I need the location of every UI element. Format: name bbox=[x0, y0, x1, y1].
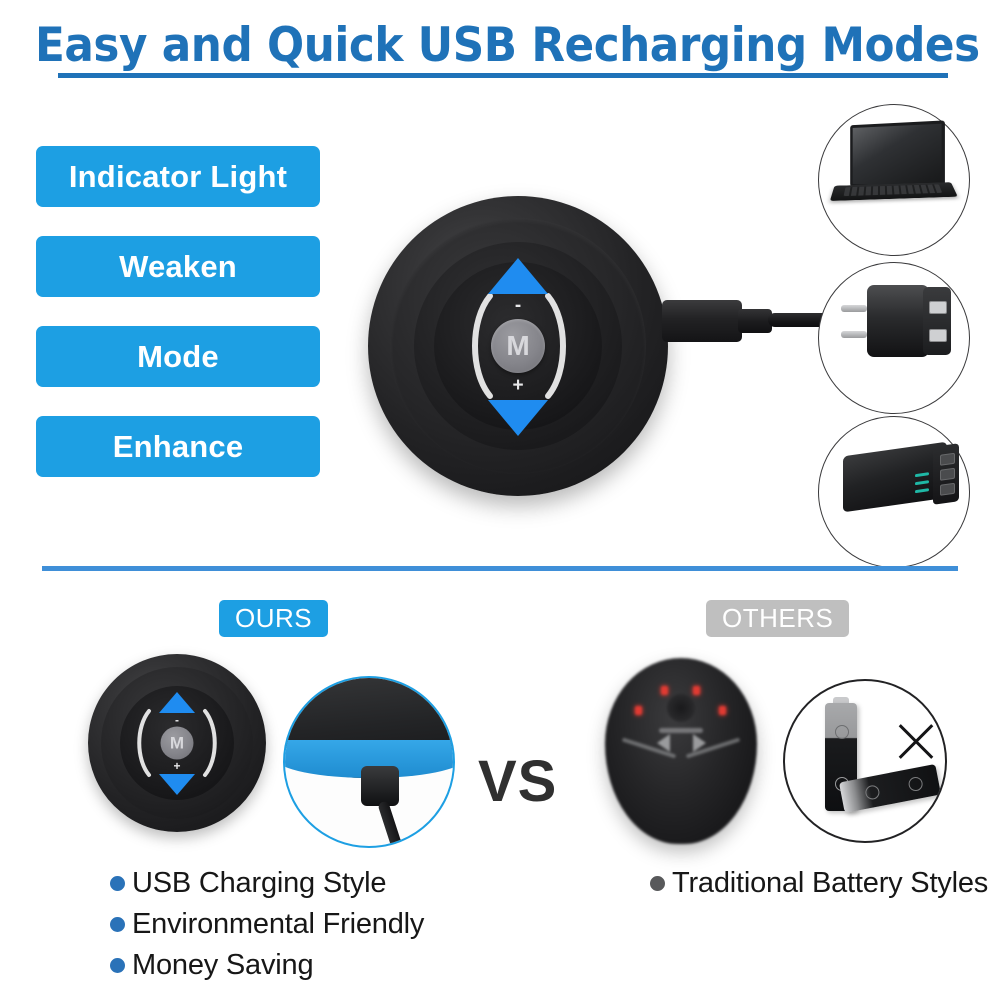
bullet-dot-icon bbox=[110, 876, 125, 891]
others-center-lens bbox=[667, 694, 695, 722]
others-led-1 bbox=[635, 706, 642, 715]
mini-weaken-up-arrow-icon bbox=[159, 692, 195, 713]
source-circle-wall-charger bbox=[818, 262, 970, 414]
feature-label-enhance[interactable]: Enhance bbox=[36, 416, 320, 477]
title-underline bbox=[58, 73, 948, 78]
batteries-circle bbox=[783, 679, 947, 843]
feature-label-mode[interactable]: Mode bbox=[36, 326, 320, 387]
charger-face bbox=[923, 287, 951, 355]
others-drawback-list: Traditional Battery Styles bbox=[650, 866, 988, 907]
bullet-dot-icon bbox=[110, 958, 125, 973]
plus-sign-label: + bbox=[512, 376, 523, 395]
badge-others: OTHERS bbox=[706, 600, 849, 637]
ours-benefit-2: Environmental Friendly bbox=[132, 907, 424, 941]
infographic-page: Easy and Quick USB Recharging Modes Indi… bbox=[0, 0, 1000, 1000]
others-device-image bbox=[605, 658, 757, 844]
power-bank-port-2 bbox=[940, 468, 955, 481]
others-led-4 bbox=[719, 706, 726, 715]
battery-plus-mark bbox=[835, 725, 849, 739]
bullet-dot-icon bbox=[110, 917, 125, 932]
list-item: USB Charging Style bbox=[110, 866, 424, 900]
charger-prong-bottom bbox=[841, 331, 867, 338]
others-drawback-1: Traditional Battery Styles bbox=[672, 866, 988, 900]
others-arrow-right-icon bbox=[693, 734, 706, 752]
page-title-wrap: Easy and Quick USB Recharging Modes bbox=[0, 18, 1000, 74]
power-bank-port-1 bbox=[940, 453, 955, 466]
list-item: Money Saving bbox=[110, 948, 424, 982]
mini-minus-sign-label: - bbox=[175, 714, 179, 726]
list-item: Traditional Battery Styles bbox=[650, 866, 988, 900]
power-bank-led-2 bbox=[915, 480, 929, 485]
power-bank-icon bbox=[819, 417, 969, 567]
charger-usb-port-1 bbox=[929, 301, 947, 314]
closeup-usb-cord bbox=[377, 800, 405, 848]
others-arrow-left-icon bbox=[657, 734, 670, 752]
page-title: Easy and Quick USB Recharging Modes bbox=[35, 18, 965, 74]
weaken-up-arrow-icon[interactable] bbox=[488, 258, 548, 294]
mini-plus-sign-label: + bbox=[173, 760, 180, 772]
power-bank-led-1 bbox=[915, 472, 929, 477]
power-bank-port-side bbox=[933, 443, 959, 505]
source-circle-laptop bbox=[818, 104, 970, 256]
laptop-icon bbox=[819, 105, 969, 255]
battery-lying-mark-1 bbox=[864, 784, 880, 800]
feature-label-weaken[interactable]: Weaken bbox=[36, 236, 320, 297]
source-circle-power-bank bbox=[818, 416, 970, 568]
mini-indicator-arc-left-icon bbox=[130, 707, 152, 779]
mini-mode-button: M bbox=[161, 727, 194, 760]
bullet-dot-icon bbox=[650, 876, 665, 891]
section-divider bbox=[42, 566, 958, 571]
charger-usb-port-2 bbox=[929, 329, 947, 342]
indicator-arc-left-icon bbox=[460, 290, 494, 402]
enhance-down-arrow-icon[interactable] bbox=[488, 400, 548, 436]
usb-wall-charger-icon bbox=[819, 263, 969, 413]
minus-sign-label: - bbox=[515, 296, 521, 315]
mini-enhance-down-arrow-icon bbox=[159, 774, 195, 795]
x-cross-icon bbox=[893, 719, 939, 765]
charger-body bbox=[867, 285, 929, 357]
others-label-bar bbox=[659, 728, 703, 733]
power-bank-body bbox=[843, 442, 947, 513]
ours-benefit-1: USB Charging Style bbox=[132, 866, 386, 900]
laptop-screen bbox=[850, 120, 945, 191]
others-led-3 bbox=[693, 686, 700, 695]
mode-button[interactable]: M bbox=[491, 319, 545, 373]
closeup-usb-plug-icon bbox=[361, 766, 399, 806]
charger-prong-top bbox=[841, 305, 867, 312]
badge-ours: OURS bbox=[219, 600, 328, 637]
mini-indicator-arc-right-icon bbox=[202, 707, 224, 779]
main-device-image: - M + bbox=[368, 196, 668, 496]
list-item: Environmental Friendly bbox=[110, 907, 424, 941]
vs-label: VS bbox=[478, 748, 557, 815]
usb-connector-icon bbox=[662, 300, 742, 342]
others-led-2 bbox=[661, 686, 668, 695]
power-bank-led-3 bbox=[915, 488, 929, 493]
indicator-arc-right-icon bbox=[544, 290, 578, 402]
ours-benefit-list: USB Charging Style Environmental Friendl… bbox=[110, 866, 424, 989]
ours-benefit-3: Money Saving bbox=[132, 948, 313, 982]
usb-port-closeup-circle bbox=[283, 676, 455, 848]
usb-connector-neck bbox=[738, 309, 772, 333]
ours-device-image: - M + bbox=[88, 654, 266, 832]
feature-label-indicator-light[interactable]: Indicator Light bbox=[36, 146, 320, 207]
battery-lying-mark-2 bbox=[907, 776, 923, 792]
feature-label-list: Indicator Light Weaken Mode Enhance bbox=[36, 146, 320, 506]
power-bank-port-3 bbox=[940, 483, 955, 496]
